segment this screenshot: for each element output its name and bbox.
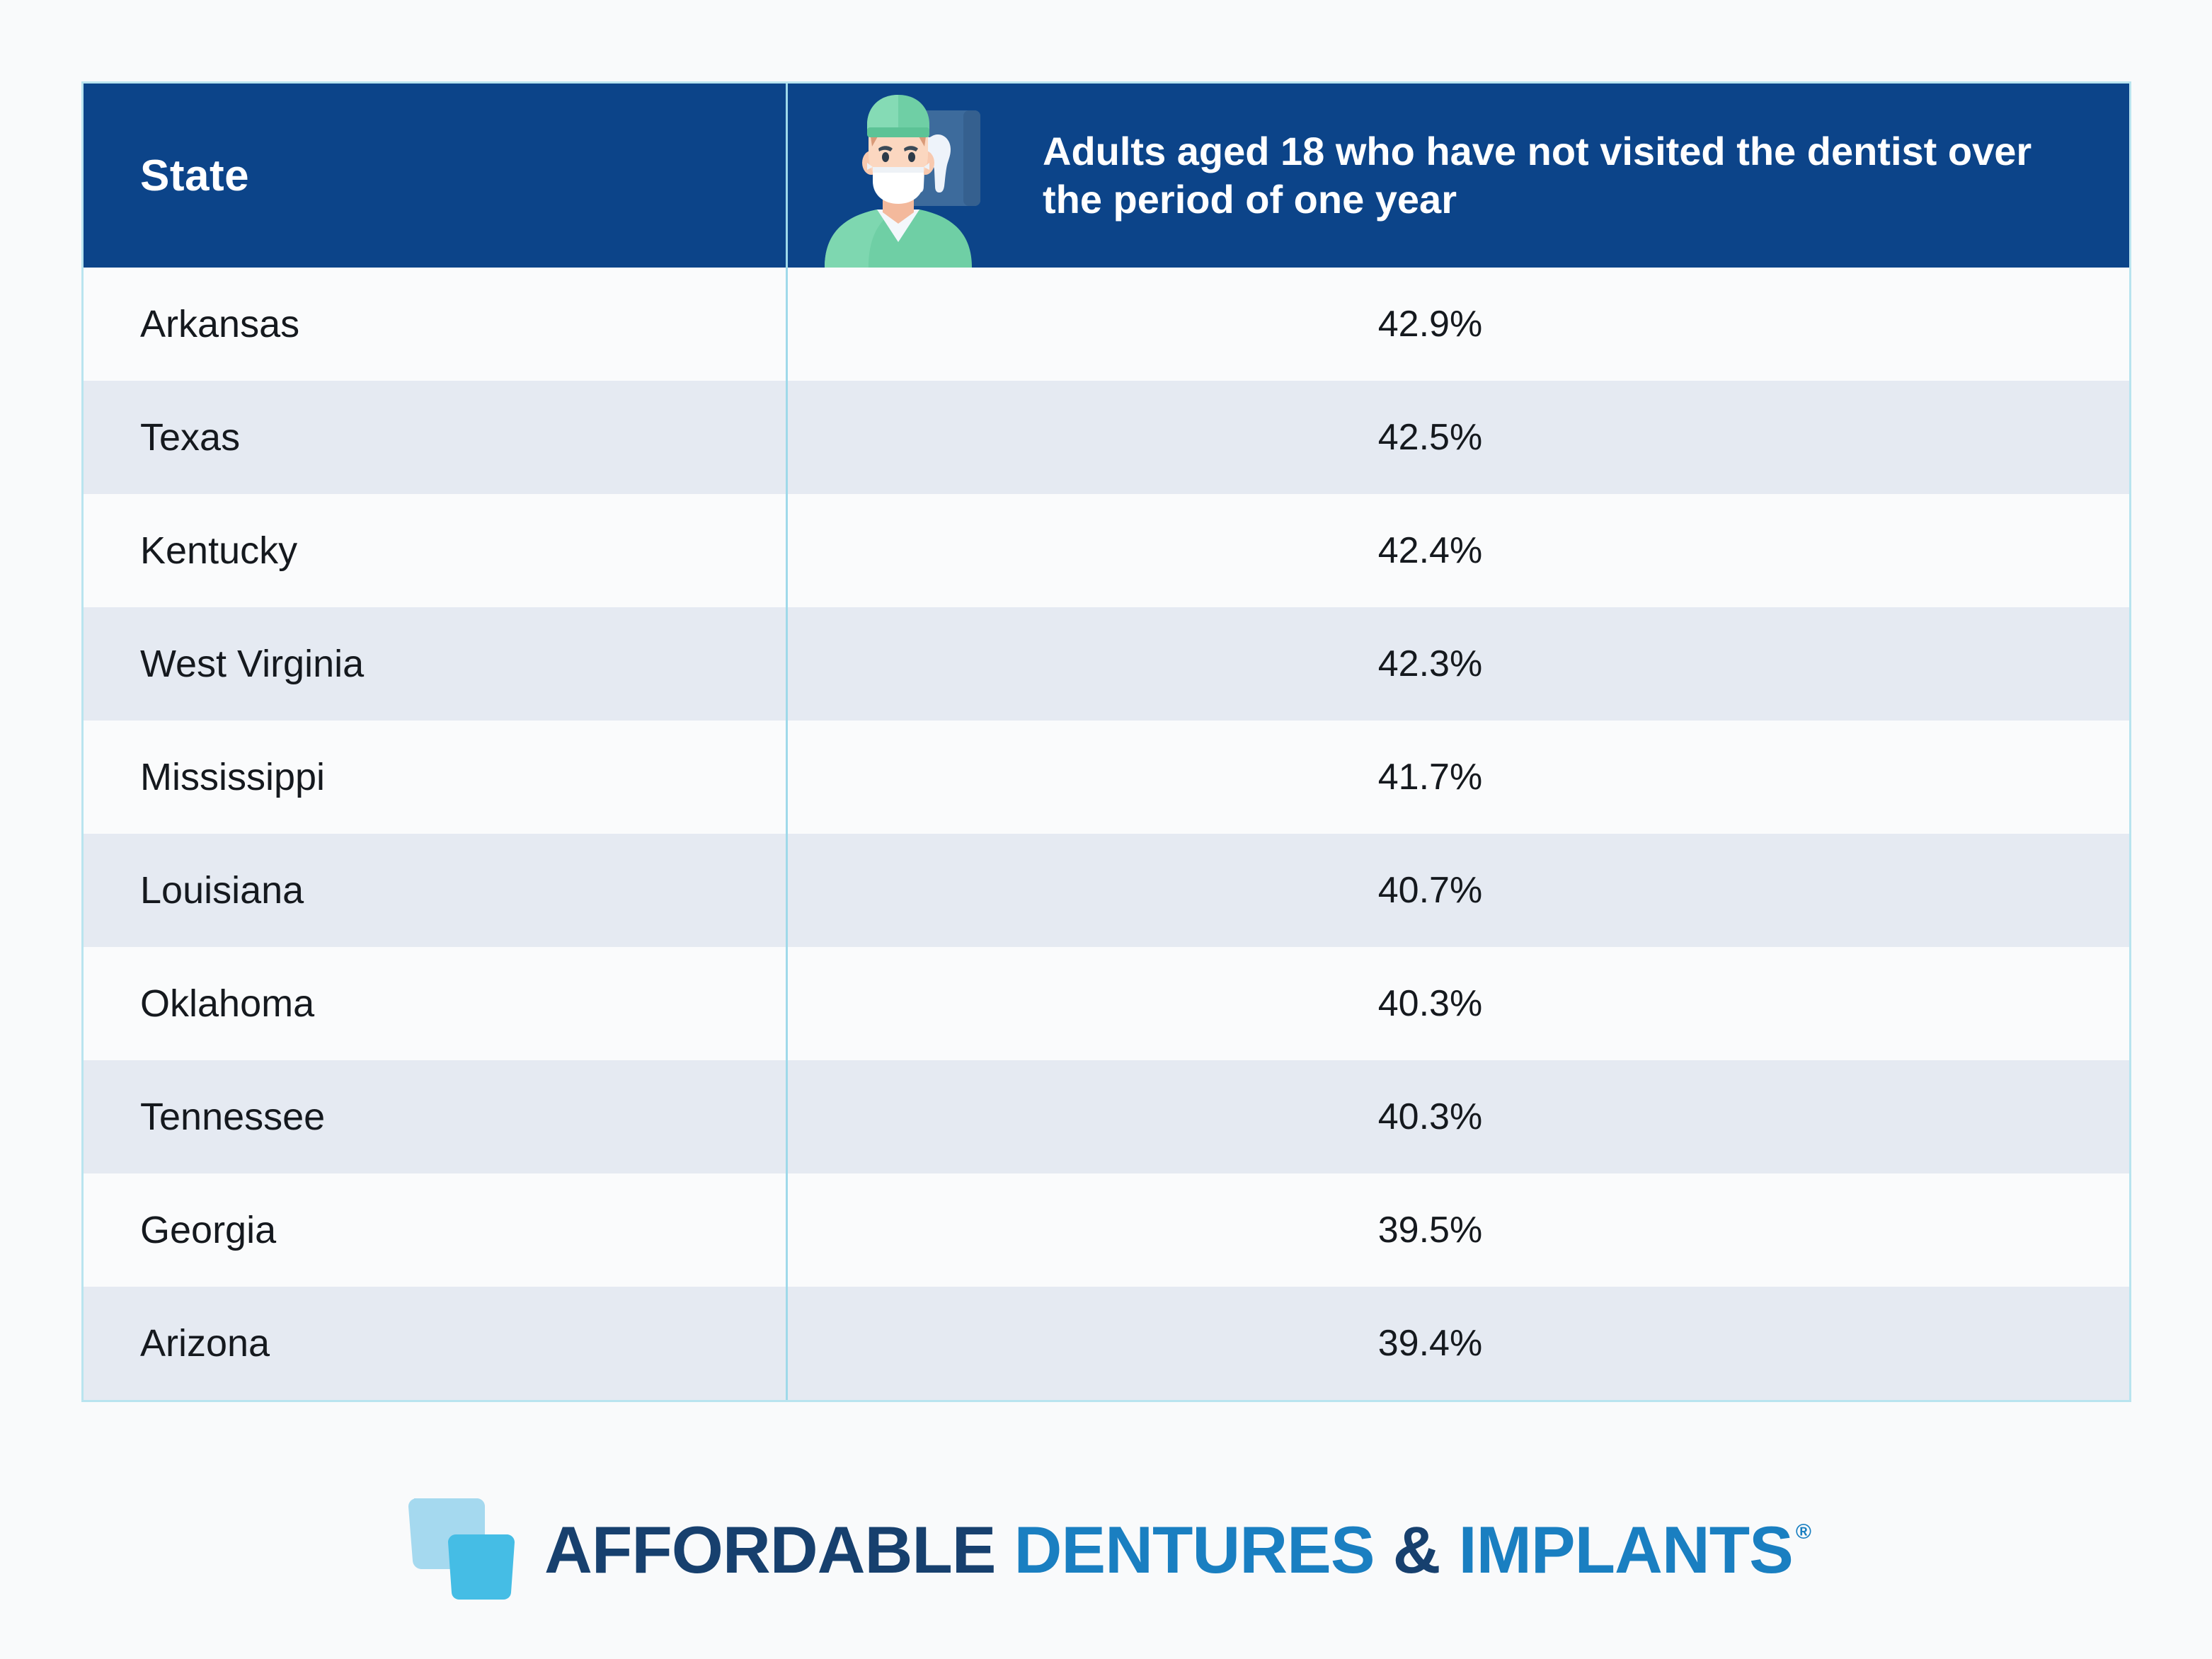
table-body: Arkansas42.9%Texas42.5%Kentucky42.4%West…	[84, 268, 2129, 1400]
state-name-label: Arizona	[140, 1321, 270, 1365]
table-row: Arkansas42.9%	[84, 268, 2129, 381]
state-name-label: Kentucky	[140, 529, 297, 573]
table-row: Tennessee40.3%	[84, 1060, 2129, 1173]
table-cell-value: 42.4%	[788, 494, 2129, 607]
state-name-label: Louisiana	[140, 868, 304, 912]
table-row: Louisiana40.7%	[84, 834, 2129, 947]
table-cell-state: Arkansas	[84, 268, 788, 381]
table-cell-state: Oklahoma	[84, 947, 788, 1060]
table-cell-state: Mississippi	[84, 721, 788, 834]
table-row: Arizona39.4%	[84, 1287, 2129, 1400]
brand-footer: AFFORDABLE DENTURES & IMPLANTS ®	[0, 1483, 2212, 1617]
table-cell-state: Texas	[84, 381, 788, 494]
table-row: Oklahoma40.3%	[84, 947, 2129, 1060]
table-cell-value: 41.7%	[788, 721, 2129, 834]
state-name-label: West Virginia	[140, 642, 364, 686]
table-cell-value: 40.3%	[788, 947, 2129, 1060]
dentist-with-xray-icon	[809, 84, 1014, 268]
table-row: Georgia39.5%	[84, 1173, 2129, 1287]
state-name-label: Texas	[140, 415, 240, 459]
table-header-cell-state: State	[84, 84, 788, 268]
percentage-value-label: 41.7%	[1378, 756, 1482, 798]
table-cell-state: Tennessee	[84, 1060, 788, 1173]
table-cell-value: 39.5%	[788, 1173, 2129, 1287]
table-cell-state: West Virginia	[84, 607, 788, 721]
table-header-cell-metric: Adults aged 18 who have not visited the …	[788, 84, 2129, 268]
wordmark-affordable: AFFORDABLE	[544, 1517, 996, 1583]
table-cell-state: Kentucky	[84, 494, 788, 607]
table-cell-state: Arizona	[84, 1287, 788, 1400]
statistics-table: State	[81, 81, 2131, 1402]
state-name-label: Tennessee	[140, 1095, 325, 1139]
table-cell-value: 40.7%	[788, 834, 2129, 947]
percentage-value-label: 39.4%	[1378, 1322, 1482, 1365]
table-cell-value: 42.5%	[788, 381, 2129, 494]
table-cell-state: Georgia	[84, 1173, 788, 1287]
percentage-value-label: 40.3%	[1378, 1096, 1482, 1138]
state-name-label: Arkansas	[140, 302, 299, 346]
table-cell-value: 40.3%	[788, 1060, 2129, 1173]
percentage-value-label: 40.3%	[1378, 982, 1482, 1025]
table-row: Kentucky42.4%	[84, 494, 2129, 607]
table-cell-value: 42.3%	[788, 607, 2129, 721]
table-cell-value: 42.9%	[788, 268, 2129, 381]
column-header-metric-label: Adults aged 18 who have not visited the …	[1043, 127, 2080, 224]
table-row: Texas42.5%	[84, 381, 2129, 494]
table-cell-value: 39.4%	[788, 1287, 2129, 1400]
table-cell-state: Louisiana	[84, 834, 788, 947]
percentage-value-label: 40.7%	[1378, 869, 1482, 912]
percentage-value-label: 42.4%	[1378, 529, 1482, 572]
percentage-value-label: 42.3%	[1378, 643, 1482, 685]
state-name-label: Georgia	[140, 1208, 276, 1252]
wordmark-ampersand: &	[1393, 1517, 1440, 1583]
percentage-value-label: 42.5%	[1378, 416, 1482, 459]
column-header-state-label: State	[140, 151, 249, 201]
brand-wordmark: AFFORDABLE DENTURES & IMPLANTS ®	[544, 1517, 1811, 1583]
state-name-label: Oklahoma	[140, 982, 314, 1026]
wordmark-dentures: DENTURES	[1014, 1517, 1375, 1583]
two-teeth-logo-icon	[401, 1488, 522, 1612]
table-row: Mississippi41.7%	[84, 721, 2129, 834]
percentage-value-label: 39.5%	[1378, 1209, 1482, 1251]
registered-trademark-icon: ®	[1796, 1522, 1811, 1543]
table-header-row: State	[84, 84, 2129, 268]
table-row: West Virginia42.3%	[84, 607, 2129, 721]
percentage-value-label: 42.9%	[1378, 303, 1482, 345]
state-name-label: Mississippi	[140, 755, 325, 799]
wordmark-implants: IMPLANTS	[1458, 1517, 1792, 1583]
